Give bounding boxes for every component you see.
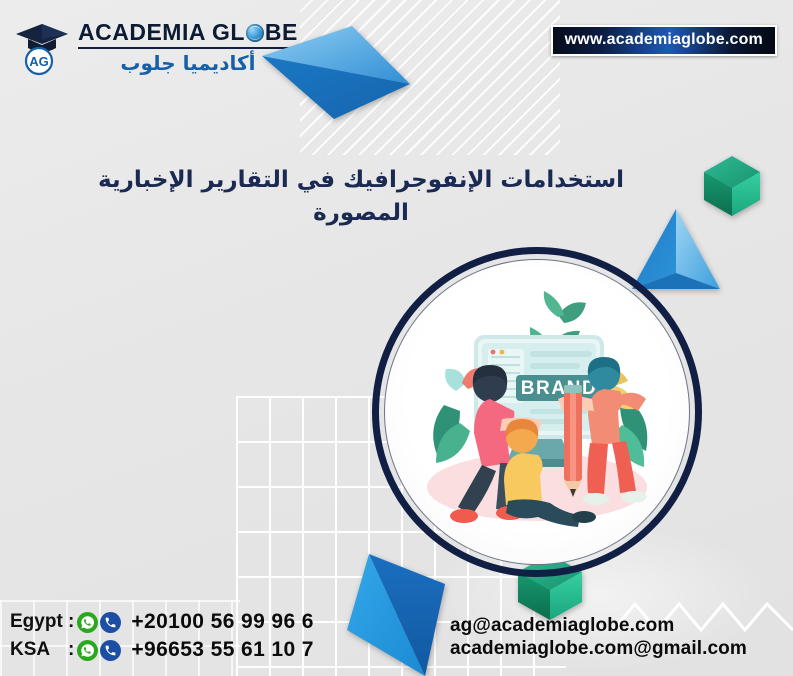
graduation-cap-logo-icon: AG	[14, 18, 70, 76]
website-url-label: www.academiaglobe.com	[565, 31, 763, 48]
whatsapp-icon[interactable]	[77, 612, 98, 633]
email-secondary[interactable]: academiaglobe.com@gmail.com	[450, 638, 747, 660]
website-banner[interactable]: www.academiaglobe.com	[551, 25, 777, 56]
svg-text:BRAND: BRAND	[521, 378, 598, 399]
footer-contacts: Egypt : +20100 56 99 96 6 KSA :	[10, 610, 314, 662]
whatsapp-icon[interactable]	[77, 640, 98, 661]
poster-canvas: AG ACADEMIA GL BE أكاديميا جلوب www.acad…	[0, 0, 793, 676]
logo-name-en-part1: ACADEMIA GL	[78, 21, 245, 44]
brand-logo[interactable]: AG ACADEMIA GL BE أكاديميا جلوب	[14, 18, 298, 76]
phone-icon[interactable]	[100, 612, 121, 633]
email-primary[interactable]: ag@academiaglobe.com	[450, 615, 747, 637]
contact-row-egypt: Egypt : +20100 56 99 96 6	[10, 610, 314, 634]
contact-number-egypt[interactable]: +20100 56 99 96 6	[131, 610, 314, 634]
pencil-icon	[564, 385, 582, 497]
contact-country-label-ksa: KSA	[10, 639, 68, 661]
contact-separator-ksa: :	[68, 639, 74, 661]
svg-text:AG: AG	[29, 54, 49, 69]
poster-title: استخدامات الإنفوجرافيك في التقارير الإخب…	[96, 164, 626, 231]
illustration-circle: BRAND	[372, 247, 702, 577]
phone-icon[interactable]	[100, 640, 121, 661]
brand-team-illustration: BRAND	[398, 273, 676, 551]
footer-emails: ag@academiaglobe.com academiaglobe.com@g…	[450, 615, 747, 660]
contact-separator-egypt: :	[68, 611, 74, 633]
contact-country-label-egypt: Egypt	[10, 611, 68, 633]
blue-kite-top-shape	[262, 14, 468, 126]
contact-row-ksa: KSA : +96653 55 61 10 7	[10, 638, 314, 662]
green-cube-right-shape	[700, 152, 764, 220]
contact-number-ksa[interactable]: +96653 55 61 10 7	[131, 638, 314, 662]
